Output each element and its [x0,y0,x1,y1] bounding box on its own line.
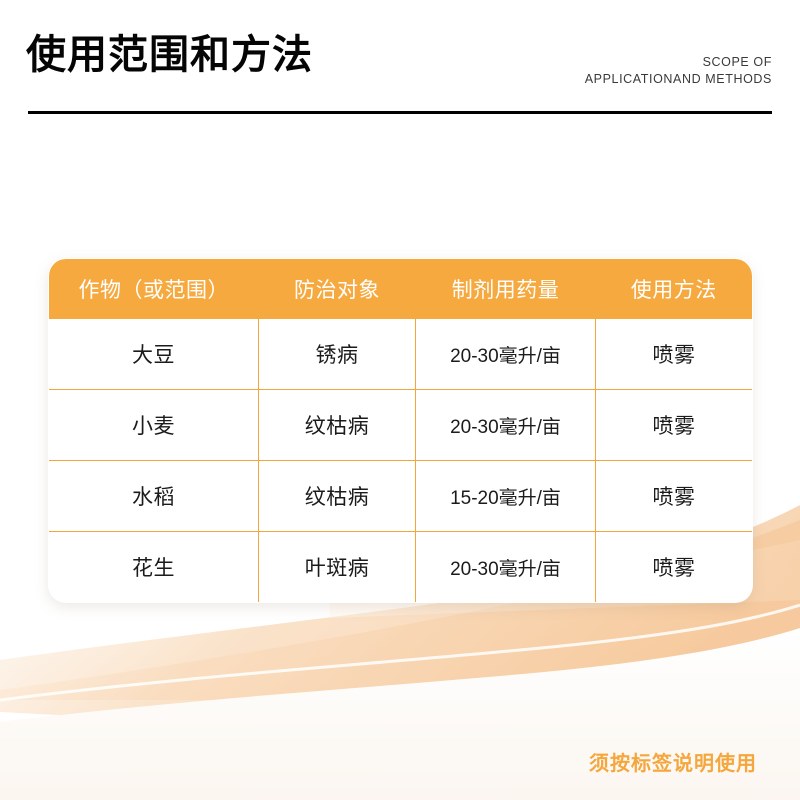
usage-table-body: 大豆 锈病 20-30毫升/亩 喷雾 小麦 纹枯病 20-30毫升/亩 喷雾 水… [49,319,753,603]
usage-table-container: 作物（或范围） 防治对象 制剂用药量 使用方法 大豆 锈病 20-30毫升/亩 … [48,258,752,602]
cell-target: 锈病 [259,319,416,390]
page-title: 使用范围和方法 [26,30,313,80]
cell-dose: 15-20毫升/亩 [416,461,596,532]
cell-method: 喷雾 [596,461,753,532]
cell-dose: 20-30毫升/亩 [416,390,596,461]
table-row: 大豆 锈病 20-30毫升/亩 喷雾 [49,319,753,390]
usage-table-head: 作物（或范围） 防治对象 制剂用药量 使用方法 [49,259,753,320]
cell-crop: 花生 [49,532,259,603]
column-header-crop: 作物（或范围） [49,259,259,320]
cell-target: 纹枯病 [259,390,416,461]
page-root: 使用范围和方法 SCOPE OF APPLICATIONAND METHODS … [0,0,800,800]
subtitle-line-2: APPLICATIONAND METHODS [585,71,772,88]
wave-highlight-line [0,605,800,700]
column-header-method: 使用方法 [596,259,753,320]
footer-note: 须按标签说明使用 [589,747,757,776]
page-subtitle-en: SCOPE OF APPLICATIONAND METHODS [585,54,772,88]
table-row: 小麦 纹枯病 20-30毫升/亩 喷雾 [49,390,753,461]
cell-dose: 20-30毫升/亩 [416,532,596,603]
column-header-dose: 制剂用药量 [416,259,596,320]
table-header-row: 作物（或范围） 防治对象 制剂用药量 使用方法 [49,259,753,320]
usage-table: 作物（或范围） 防治对象 制剂用药量 使用方法 大豆 锈病 20-30毫升/亩 … [48,258,753,603]
cell-dose: 20-30毫升/亩 [416,319,596,390]
cell-method: 喷雾 [596,532,753,603]
table-row: 花生 叶斑病 20-30毫升/亩 喷雾 [49,532,753,603]
header-divider-rule [28,111,772,114]
cell-crop: 小麦 [49,390,259,461]
cell-crop: 大豆 [49,319,259,390]
cell-method: 喷雾 [596,319,753,390]
subtitle-line-1: SCOPE OF [585,54,772,71]
cell-method: 喷雾 [596,390,753,461]
cell-target: 叶斑病 [259,532,416,603]
cell-target: 纹枯病 [259,461,416,532]
column-header-target: 防治对象 [259,259,416,320]
page-header: 使用范围和方法 SCOPE OF APPLICATIONAND METHODS [0,0,800,125]
table-row: 水稻 纹枯病 15-20毫升/亩 喷雾 [49,461,753,532]
cell-crop: 水稻 [49,461,259,532]
